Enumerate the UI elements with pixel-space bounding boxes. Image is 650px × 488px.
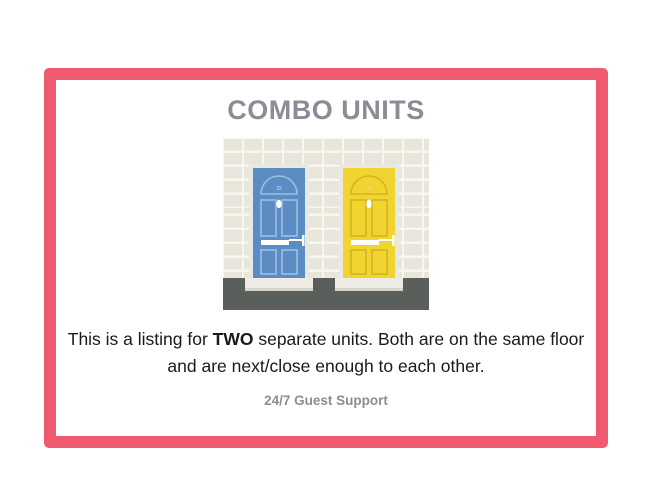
blue-door-letterbox <box>261 240 289 245</box>
page-title: COMBO UNITS <box>227 96 425 126</box>
yellow-door-letterbox <box>351 240 379 245</box>
yellow-door: 34 <box>335 164 403 291</box>
content-card-frame: COMBO UNITS <box>44 68 608 448</box>
blue-door: 32 <box>245 164 313 291</box>
two-front-doors-illustration: 32 <box>223 138 429 310</box>
blue-door-knob <box>276 199 281 207</box>
body-paragraph: This is a listing for TWO separate units… <box>66 326 586 380</box>
body-text-part1: This is a listing for <box>68 329 213 349</box>
yellow-door-knob <box>366 199 371 207</box>
blue-door-house-number: 32 <box>276 186 282 192</box>
yellow-door-house-number: 34 <box>366 186 372 192</box>
card-inner: COMBO UNITS <box>56 80 596 436</box>
blue-door-handle <box>289 239 303 241</box>
slide-canvas: COMBO UNITS <box>0 0 650 488</box>
body-text-emphasis: TWO <box>213 329 254 349</box>
doors-graphic: 32 <box>223 138 429 310</box>
yellow-door-handle <box>379 239 393 241</box>
guest-support-note: 24/7 Guest Support <box>264 393 388 408</box>
